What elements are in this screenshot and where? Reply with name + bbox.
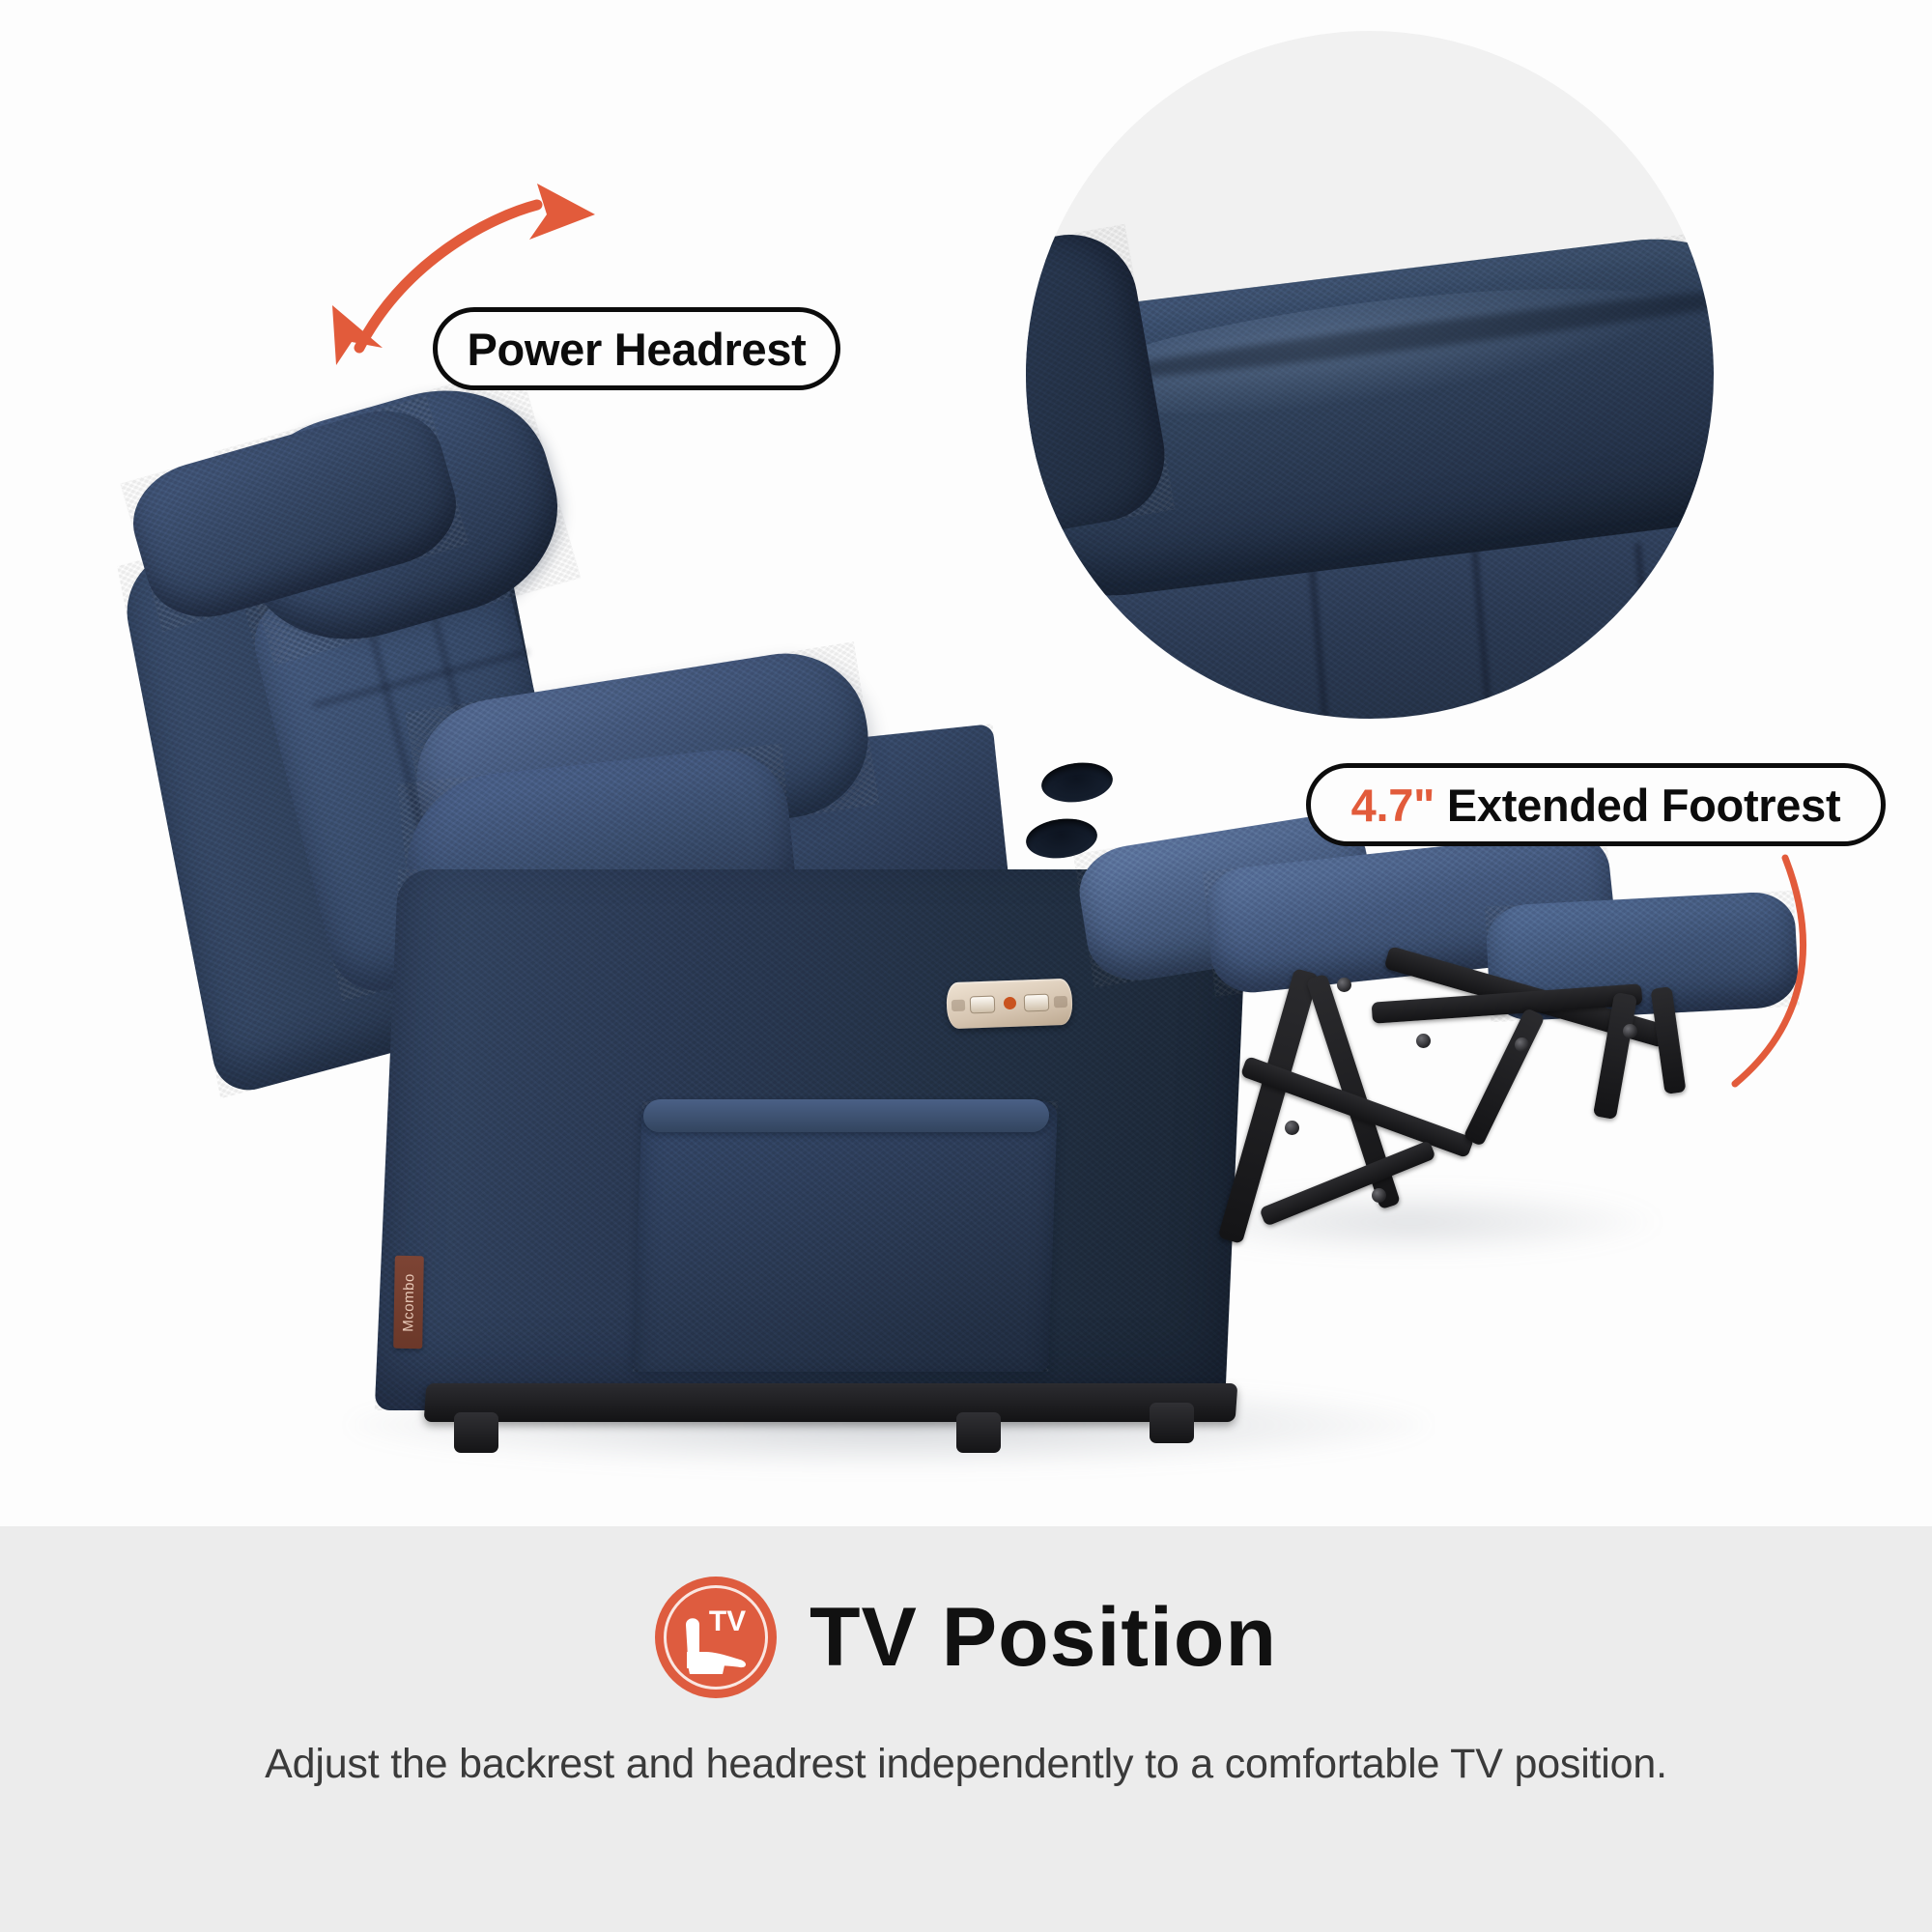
fabric-texture	[633, 1101, 1058, 1372]
power-headrest-label: Power Headrest	[467, 323, 806, 376]
mechanism-pivot	[1372, 1188, 1386, 1203]
extended-footrest-badge: 4.7" Extended Footrest	[1306, 763, 1886, 846]
mechanism-pivot	[1337, 978, 1351, 992]
recline-button[interactable]	[1024, 994, 1050, 1012]
infographic-root: Mcombo	[0, 0, 1932, 1932]
chair-foot	[1150, 1403, 1194, 1443]
chair-foot	[956, 1412, 1001, 1453]
tv-chair-glyph: TV	[655, 1577, 777, 1698]
cup-holder	[1039, 759, 1115, 807]
caption-subtitle: Adjust the backrest and headrest indepen…	[0, 1741, 1932, 1788]
caption-title-row: TV TV Position	[0, 1577, 1932, 1698]
mechanism-pivot	[1515, 1037, 1529, 1052]
product-hero: Mcombo	[0, 0, 1932, 1526]
panel-left-indicator	[952, 1000, 965, 1011]
mechanism-pivot	[1285, 1121, 1299, 1135]
control-panel[interactable]	[946, 979, 1073, 1030]
panel-right-indicator	[1054, 996, 1067, 1008]
mechanism-link	[1463, 1008, 1546, 1147]
footrest-measure: 4.7"	[1351, 780, 1435, 831]
power-headrest-badge: Power Headrest	[433, 307, 840, 390]
cup-holder	[1024, 815, 1099, 863]
mechanism-pivot	[1416, 1034, 1431, 1048]
headrest-button[interactable]	[970, 996, 996, 1014]
footrest-label-text	[1435, 780, 1447, 831]
tv-position-icon: TV	[655, 1577, 777, 1698]
footrest-label-rest: Extended Footrest	[1447, 780, 1841, 831]
mcombo-logo-icon	[1000, 991, 1020, 1017]
side-storage-pocket	[633, 1101, 1058, 1372]
extended-footrest-label: 4.7" Extended Footrest	[1351, 779, 1841, 832]
pocket-lip	[642, 1099, 1049, 1132]
brand-tag-label: Mcombo	[400, 1273, 417, 1332]
caption-title: TV Position	[810, 1596, 1277, 1679]
chair-base-rail	[424, 1383, 1238, 1422]
chair-foot	[454, 1412, 498, 1453]
mechanism-link	[1259, 1140, 1436, 1227]
logo-mark	[1003, 996, 1015, 1009]
caption-band: TV TV Position Adjust the backrest and h…	[0, 1526, 1932, 1932]
tv-icon-text: TV	[709, 1605, 746, 1637]
mechanism-pivot	[1623, 1024, 1637, 1038]
brand-tag: Mcombo	[393, 1256, 424, 1350]
